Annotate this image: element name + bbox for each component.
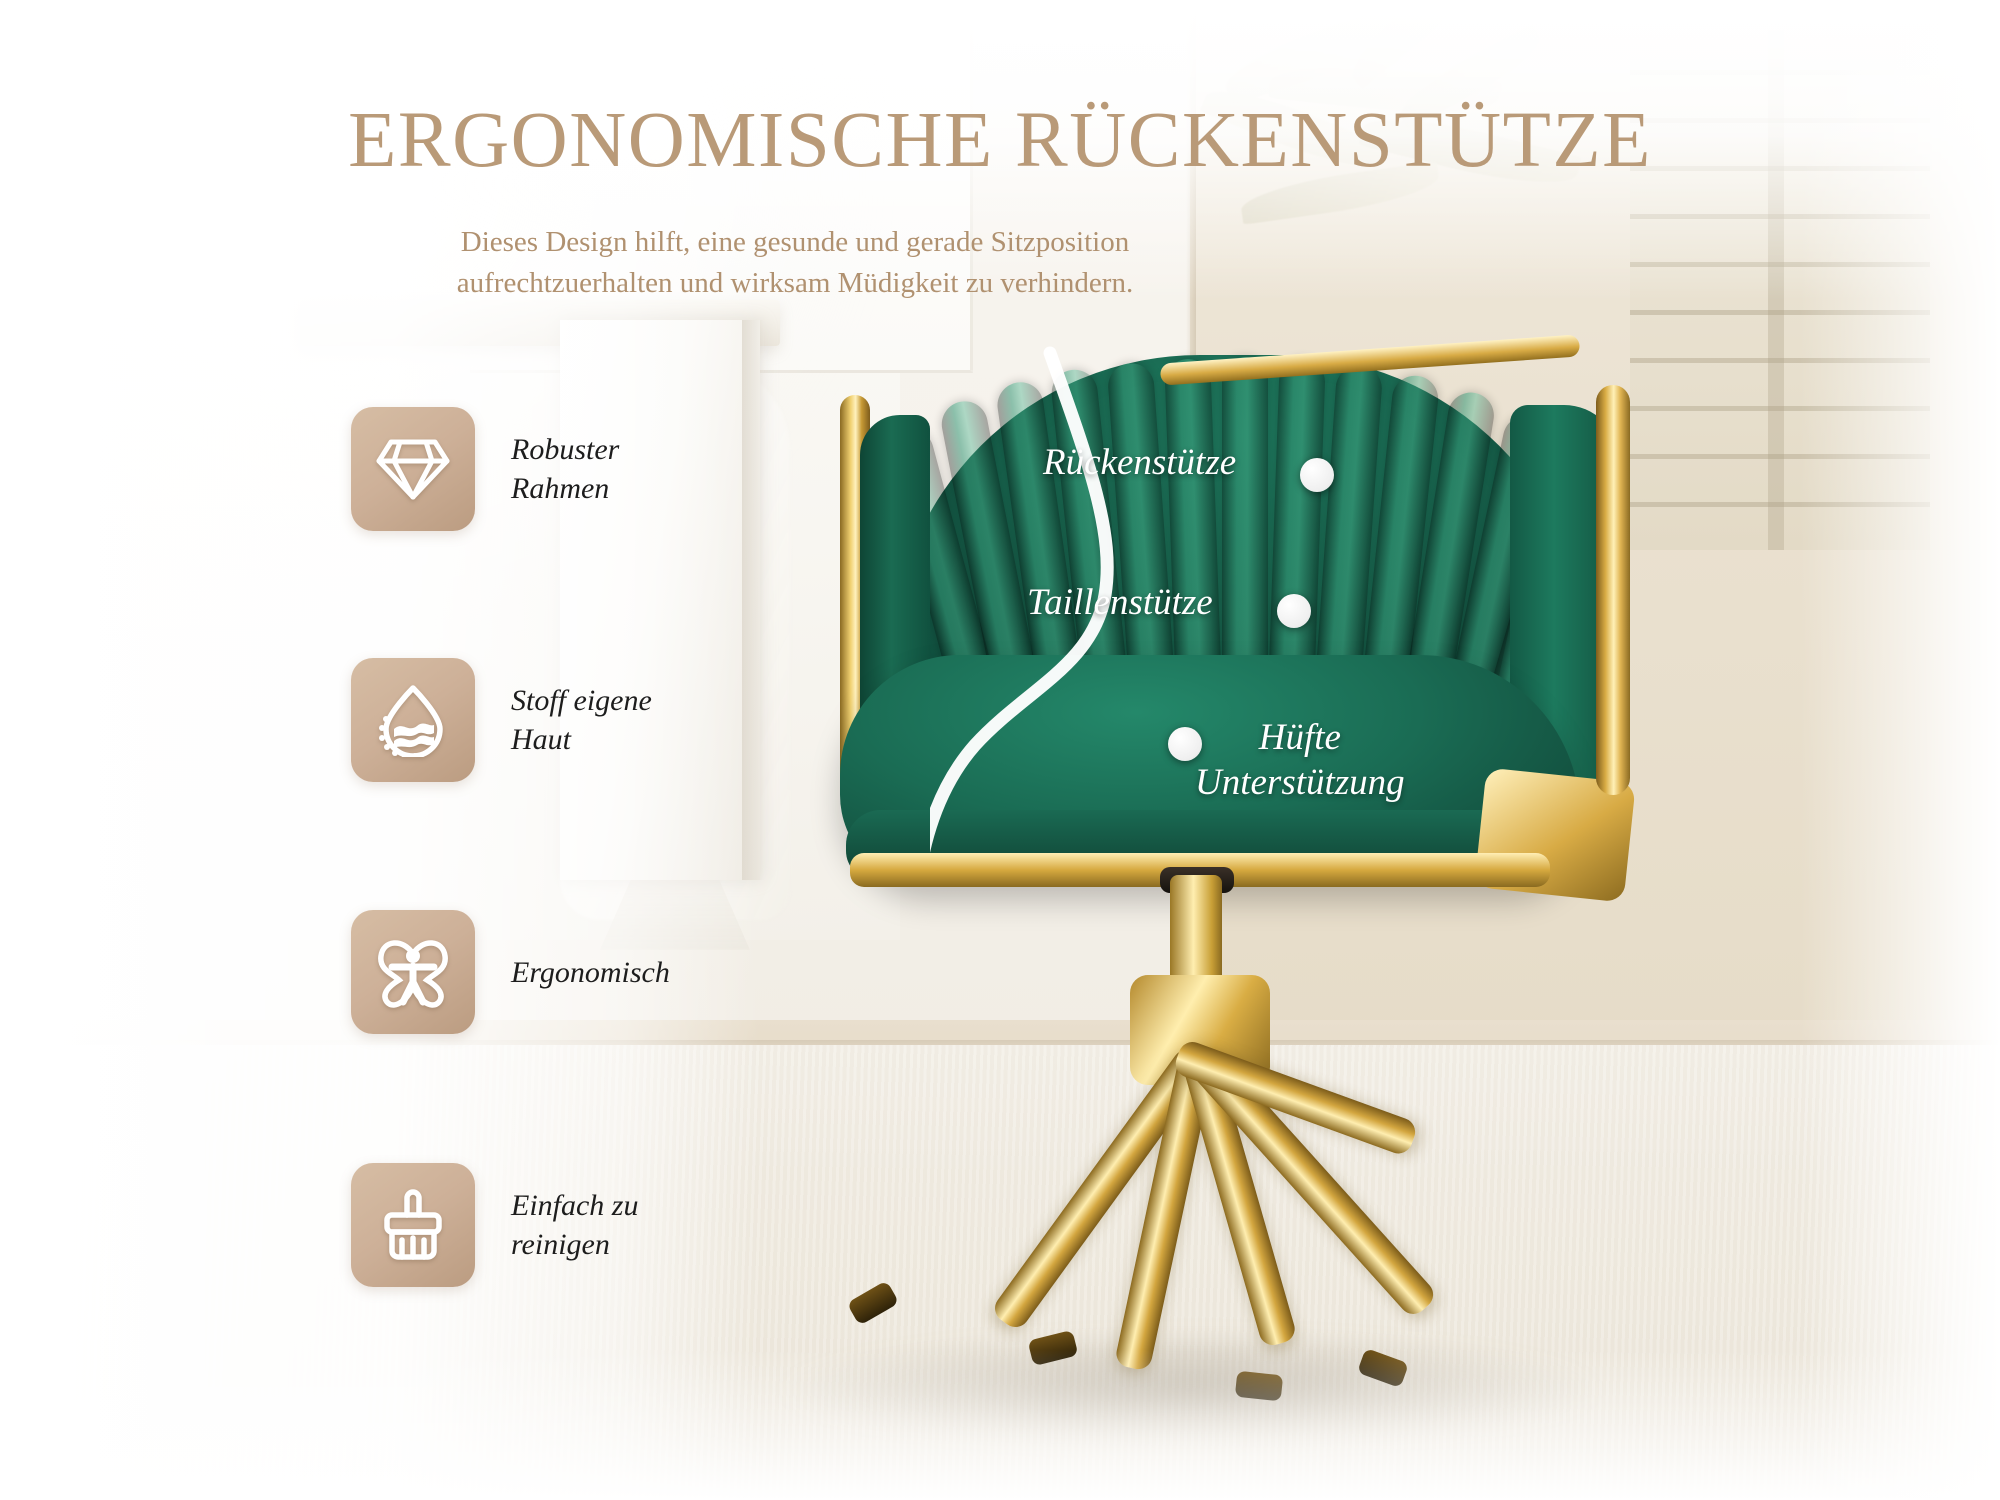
product-infographic: ERGONOMISCHE RÜCKENSTÜTZE Dieses Design …: [0, 0, 2000, 1500]
callout-dot-taillenstuetze: [1277, 594, 1311, 628]
subtitle-line-2: aufrechtzuerhalten und wirksam Müdigkeit…: [430, 263, 1160, 304]
chair-leg-foot: [1357, 1348, 1409, 1388]
feature-label: Stoff eigene Haut: [511, 681, 652, 759]
callout-label-rueckenstuetze: Rückenstütze: [1043, 440, 1236, 485]
chair-gold-post-right: [1596, 385, 1630, 795]
feature-label: Einfach zu reinigen: [511, 1186, 639, 1264]
feature-label: Robuster Rahmen: [511, 430, 619, 508]
chair-leg-foot: [1235, 1371, 1283, 1402]
feature-label: Ergonomisch: [511, 953, 670, 992]
subtitle-line-1: Dieses Design hilft, eine gesunde und ge…: [430, 222, 1160, 263]
chair-leg-foot: [1028, 1330, 1079, 1366]
callout-dot-huefte-unterstuetzung: [1168, 727, 1202, 761]
feature-icon-tile: [351, 910, 475, 1034]
brush-icon: [378, 1187, 448, 1263]
feature-item-stoff-eigene-haut[interactable]: Stoff eigene Haut: [351, 658, 652, 782]
callout-label-huefte-unterstuetzung: Hüfte Unterstützung: [1195, 715, 1405, 805]
water-drop-icon: [377, 683, 449, 757]
callout-label-taillenstuetze: Taillenstütze: [1027, 580, 1213, 625]
callout-dot-rueckenstuetze: [1300, 458, 1334, 492]
feature-item-einfach-zu-reinigen[interactable]: Einfach zu reinigen: [351, 1163, 639, 1287]
page-subtitle: Dieses Design hilft, eine gesunde und ge…: [430, 222, 1160, 304]
page-title: ERGONOMISCHE RÜCKENSTÜTZE: [0, 96, 2000, 186]
feature-item-robuster-rahmen[interactable]: Robuster Rahmen: [351, 407, 619, 531]
feature-icon-tile: [351, 407, 475, 531]
ergonomic-icon: [375, 936, 451, 1008]
feature-icon-tile: [351, 1163, 475, 1287]
diamond-icon: [376, 436, 450, 502]
office-chair-product: [860, 355, 1680, 1415]
feature-item-ergonomisch[interactable]: Ergonomisch: [351, 910, 670, 1034]
feature-icon-tile: [351, 658, 475, 782]
